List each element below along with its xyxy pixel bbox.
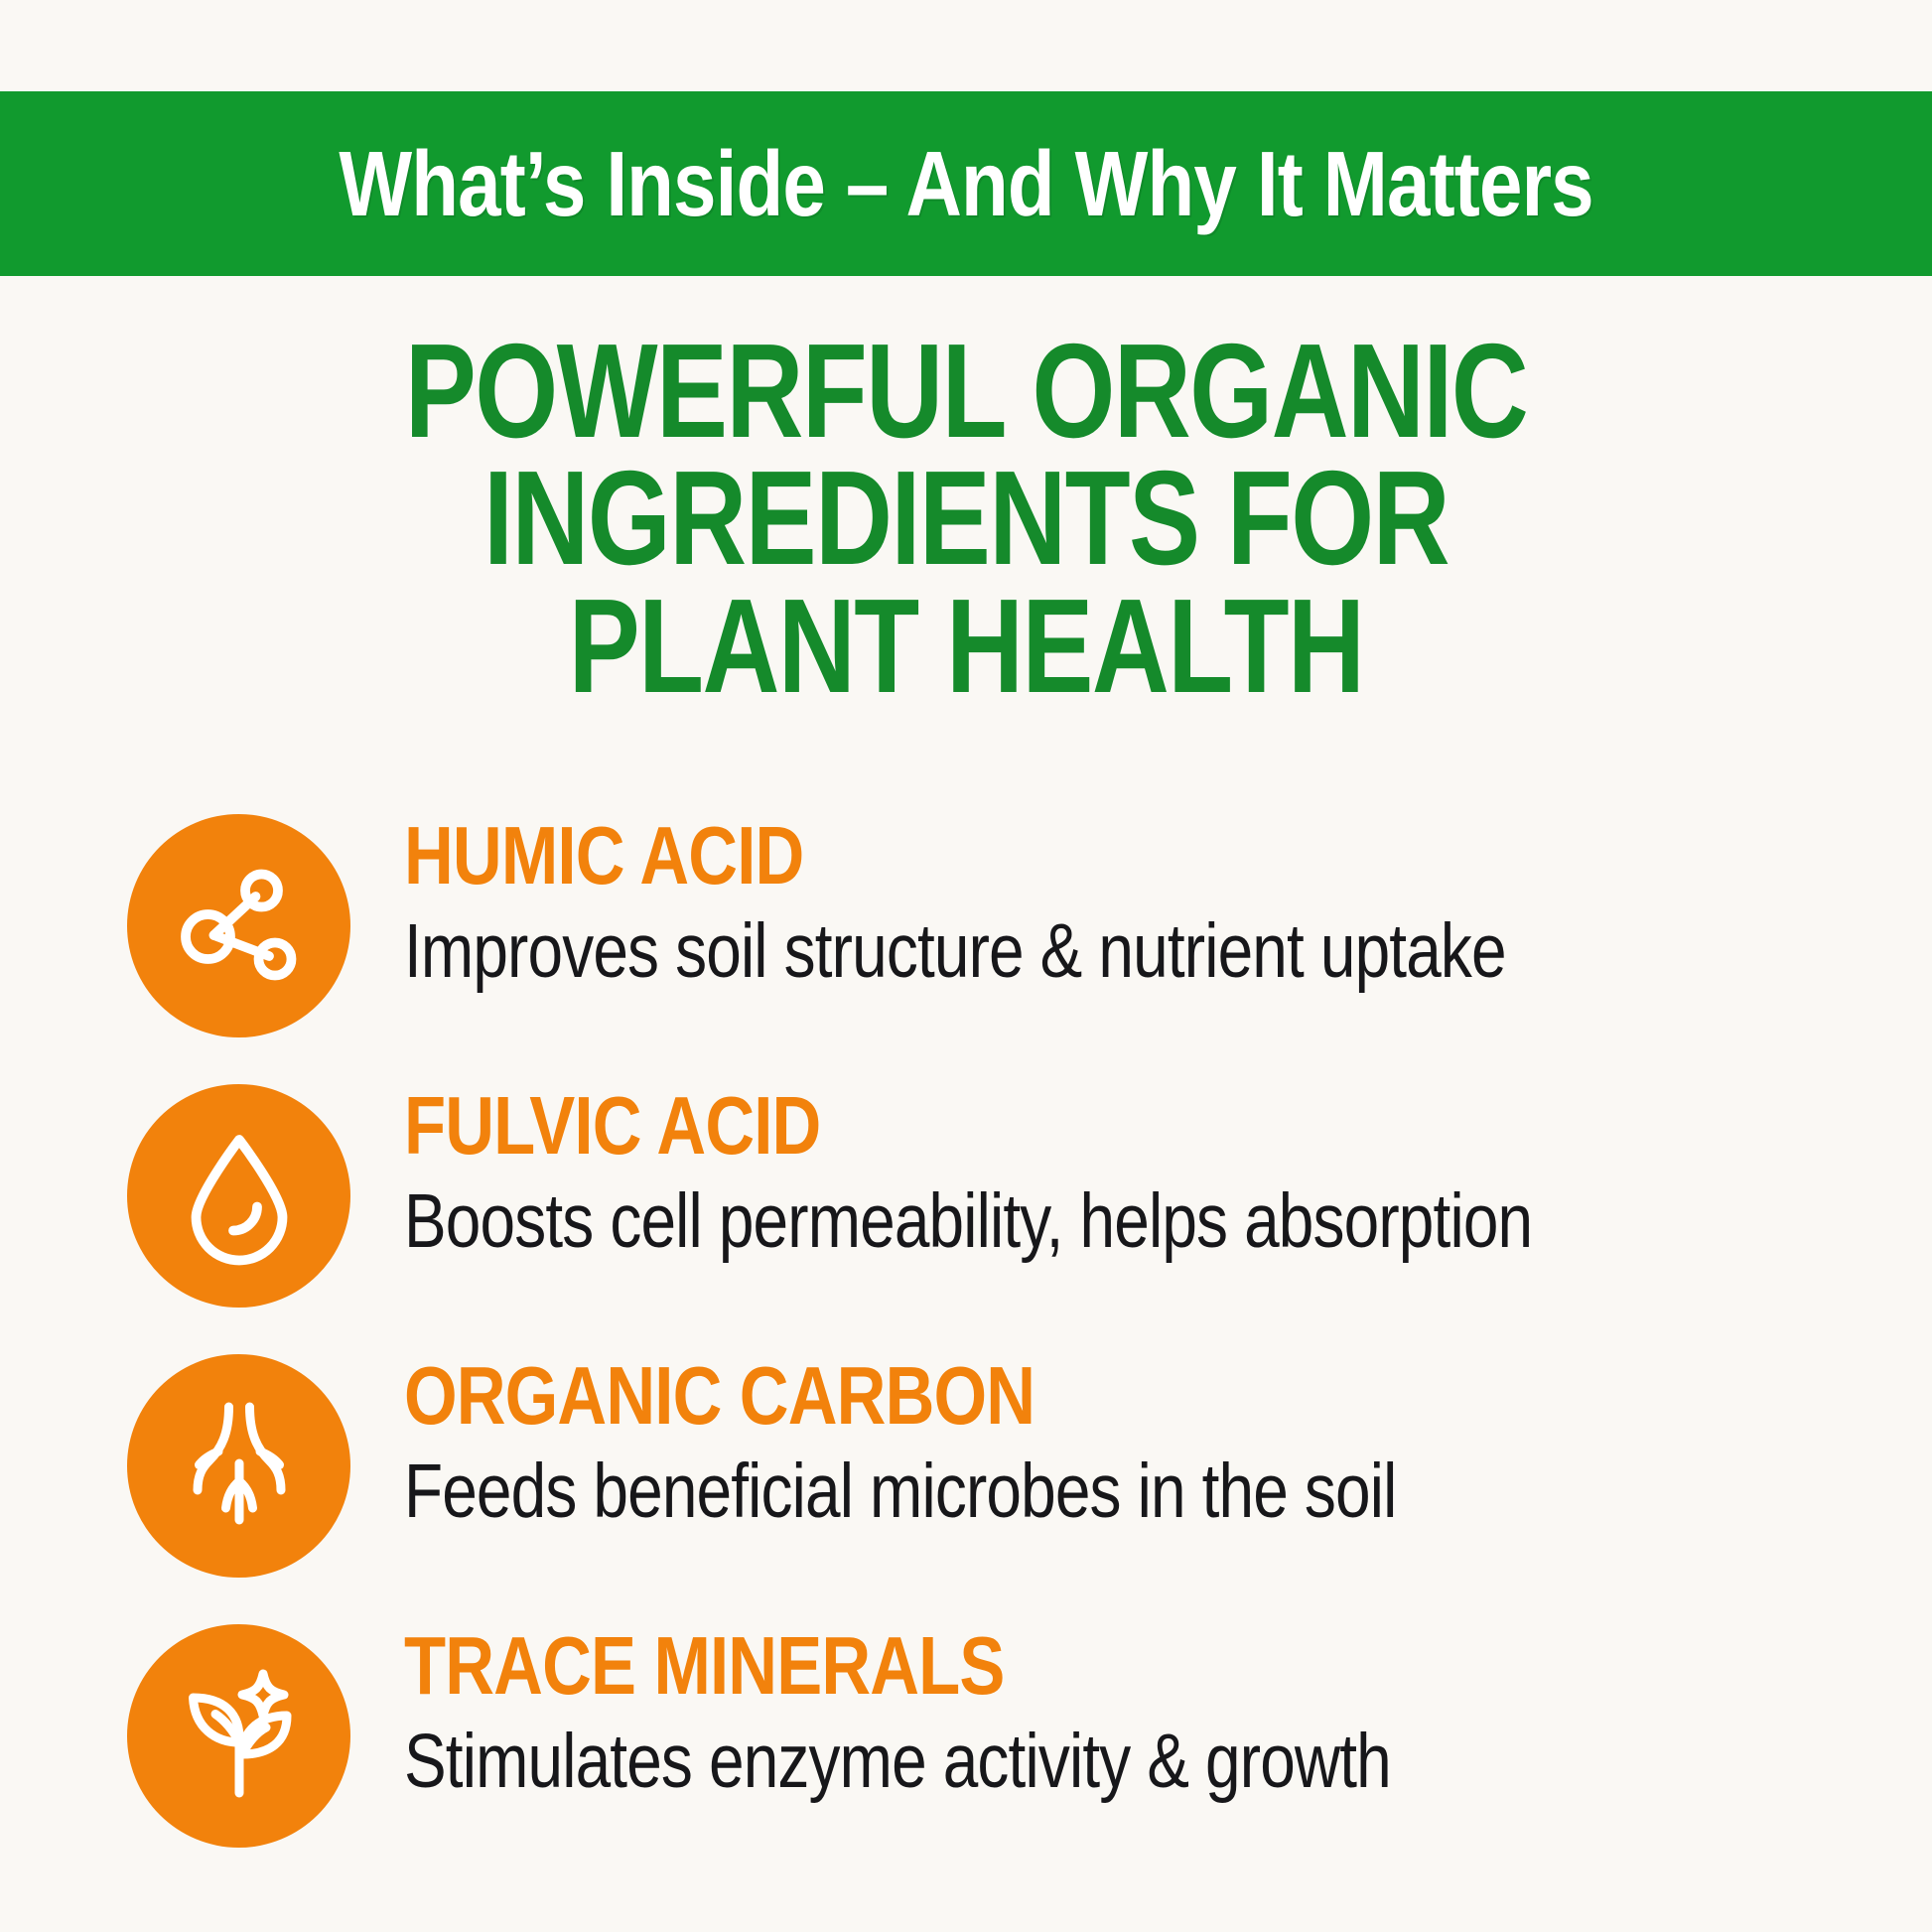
feature-icon-badge (127, 1354, 350, 1578)
banner-title: What’s Inside – And Why It Matters (339, 131, 1592, 237)
feature-description: Boosts cell permeability, helps absorpti… (404, 1180, 1672, 1263)
feature-title: HUMIC ACID (404, 814, 1672, 897)
feature-list: HUMIC ACID Improves soil structure & nut… (0, 806, 1932, 1886)
feature-text: TRACE MINERALS Stimulates enzyme activit… (350, 1616, 1932, 1803)
list-item: TRACE MINERALS Stimulates enzyme activit… (0, 1616, 1932, 1886)
list-item: FULVIC ACID Boosts cell permeability, he… (0, 1076, 1932, 1346)
plant-roots-icon (165, 1392, 314, 1541)
list-item: HUMIC ACID Improves soil structure & nut… (0, 806, 1932, 1076)
feature-title: TRACE MINERALS (404, 1624, 1672, 1707)
sprout-sparkle-icon (165, 1662, 314, 1811)
feature-icon-badge (127, 1084, 350, 1308)
page-title: POWERFUL ORGANIC INGREDIENTS FOR PLANT H… (0, 328, 1932, 710)
infographic-poster: What’s Inside – And Why It Matters POWER… (0, 0, 1932, 1932)
feature-text: ORGANIC CARBON Feeds beneficial microbes… (350, 1346, 1932, 1533)
feature-text: HUMIC ACID Improves soil structure & nut… (350, 806, 1932, 993)
feature-icon-badge (127, 814, 350, 1037)
water-droplet-icon (165, 1122, 314, 1271)
list-item: ORGANIC CARBON Feeds beneficial microbes… (0, 1346, 1932, 1616)
feature-description: Stimulates enzyme activity & growth (404, 1721, 1672, 1803)
headline-line-1: POWERFUL ORGANIC (194, 328, 1739, 455)
headline-line-2: INGREDIENTS FOR (194, 455, 1739, 582)
feature-description: Feeds beneficial microbes in the soil (404, 1450, 1672, 1533)
headline-line-3: PLANT HEALTH (194, 583, 1739, 710)
molecule-network-icon (165, 852, 314, 1001)
feature-text: FULVIC ACID Boosts cell permeability, he… (350, 1076, 1932, 1263)
feature-icon-badge (127, 1624, 350, 1848)
banner: What’s Inside – And Why It Matters (0, 91, 1932, 276)
feature-title: FULVIC ACID (404, 1084, 1672, 1167)
feature-title: ORGANIC CARBON (404, 1354, 1672, 1437)
feature-description: Improves soil structure & nutrient uptak… (404, 910, 1672, 993)
